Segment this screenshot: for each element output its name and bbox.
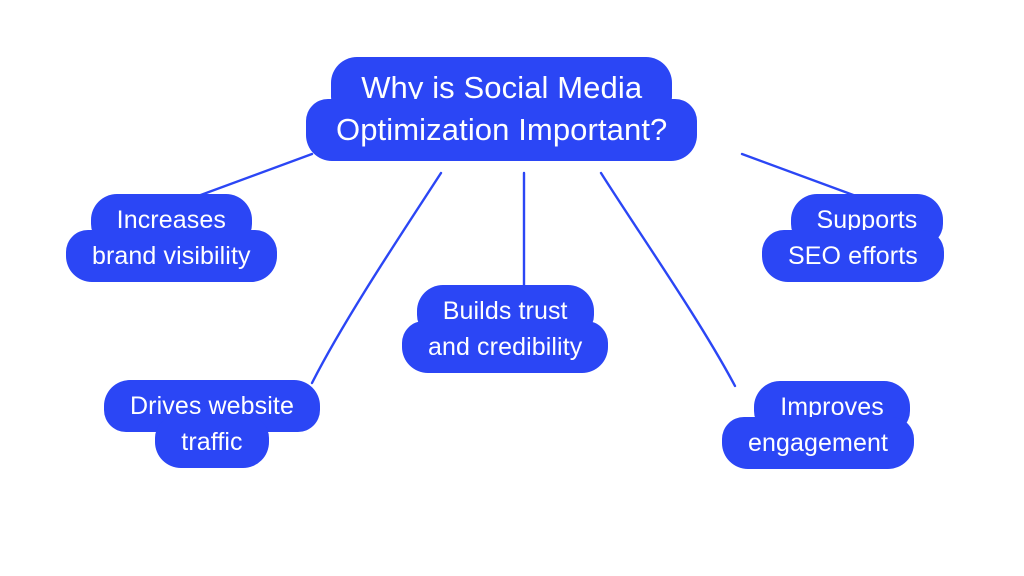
node-improves-engagement-line-2: engagement: [722, 417, 914, 469]
node-builds-trust-and-credibility[interactable]: Builds trust and credibility: [402, 285, 608, 373]
node-drives-website-traffic-line-2: traffic: [155, 416, 268, 468]
node-central-line-2: Optimization Important?: [306, 99, 697, 161]
connector-to-increases-brand-visibility: [198, 154, 312, 196]
node-supports-seo-efforts[interactable]: Supports SEO efforts: [762, 194, 944, 282]
node-drives-website-traffic[interactable]: Drives website traffic: [104, 380, 320, 468]
node-improves-engagement[interactable]: Improves engagement: [722, 381, 914, 469]
connector-to-improves-engagement: [601, 173, 735, 386]
node-builds-trust-and-credibility-line-2: and credibility: [402, 321, 608, 373]
node-increases-brand-visibility[interactable]: Increases brand visibility: [66, 194, 277, 282]
mindmap-canvas: Why is Social Media Optimization Importa…: [0, 0, 1024, 576]
node-increases-brand-visibility-line-2: brand visibility: [66, 230, 277, 282]
node-supports-seo-efforts-line-2: SEO efforts: [762, 230, 944, 282]
node-central[interactable]: Why is Social Media Optimization Importa…: [306, 57, 697, 161]
connector-to-supports-seo-efforts: [742, 154, 856, 196]
